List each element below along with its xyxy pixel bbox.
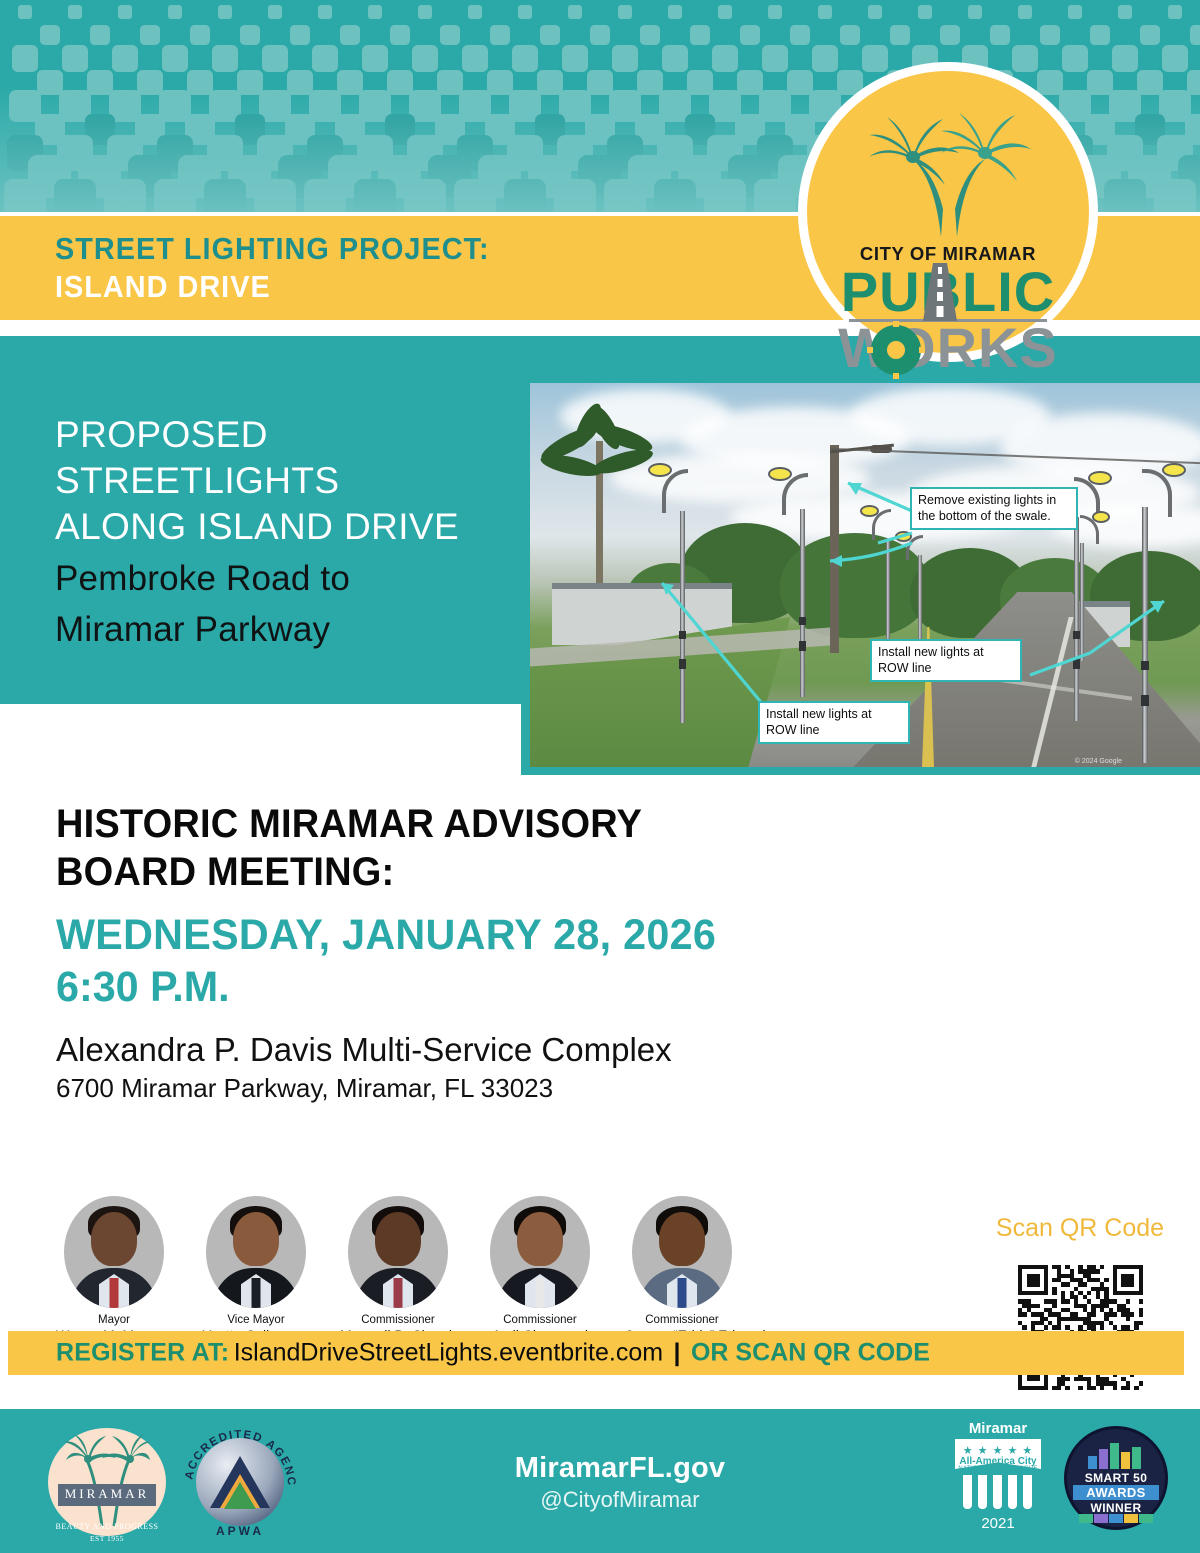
- apwa-bottom-text: APWA: [182, 1524, 298, 1538]
- seal-tagline: BEAUTY AND PROGRESS: [48, 1522, 166, 1531]
- project-title-line1: STREET LIGHTING PROJECT:: [55, 230, 490, 268]
- website-url[interactable]: MiramarFL.gov: [440, 1452, 800, 1485]
- register-url[interactable]: IslandDriveStreetLights.eventbrite.com: [234, 1339, 663, 1367]
- intro-line2: STREETLIGHTS: [55, 458, 525, 504]
- intro-line1: PROPOSED: [55, 412, 525, 458]
- street-photo: Remove existing lights in the bottom of …: [530, 383, 1200, 767]
- all-america-city-icon: Miramar ★ ★ ★ ★ ★ All-America City NATIO…: [950, 1420, 1046, 1532]
- official-card: Commissioner Carson “Eddy” Edwards: [624, 1196, 740, 1344]
- aac-org: NATIONAL CIVIC LEAGUE: [955, 1466, 1041, 1472]
- official-card: Commissioner Avril Cherasard: [482, 1196, 598, 1344]
- callout-remove-existing: Remove existing lights in the bottom of …: [910, 487, 1078, 530]
- miramar-seal-icon: MIRAMAR: [48, 1428, 166, 1536]
- project-title-line2: ISLAND DRIVE: [55, 268, 490, 306]
- avatar: [64, 1196, 164, 1308]
- meeting-info: HISTORIC MIRAMAR ADVISORY BOARD MEETING:…: [56, 800, 1146, 1104]
- meeting-address: 6700 Miramar Parkway, Miramar, FL 33023: [56, 1072, 1146, 1104]
- register-bar: REGISTER AT: IslandDriveStreetLights.eve…: [8, 1331, 1184, 1375]
- photo-attribution: © 2024 Google: [1075, 758, 1122, 765]
- officials-row: Mayor Wayne M. Messam Vice Mayor Yvette …: [56, 1196, 796, 1344]
- aac-city: Miramar: [950, 1420, 1046, 1437]
- meeting-time: 6:30 P.M.: [56, 962, 1102, 1012]
- gear-icon: [867, 321, 925, 379]
- callout-install-row-left: Install new lights at ROW line: [758, 701, 910, 744]
- apwa-accredited-icon: ACCREDITED AGENCY APWA: [182, 1424, 298, 1540]
- meeting-date: WEDNESDAY, JANUARY 28, 2026: [56, 910, 1102, 960]
- qr-label: Scan QR Code: [985, 1214, 1175, 1243]
- official-title: Commissioner: [340, 1313, 456, 1327]
- meeting-venue: Alexandra P. Davis Multi-Service Complex: [56, 1030, 1146, 1070]
- avatar: [632, 1196, 732, 1308]
- seal-est: EST 1955: [48, 1534, 166, 1543]
- palm-trees-icon: [853, 105, 1043, 245]
- official-title: Mayor: [56, 1313, 172, 1327]
- official-card: Vice Mayor Yvette Colbourne: [198, 1196, 314, 1344]
- official-title: Commissioner: [482, 1313, 598, 1327]
- register-suffix: OR SCAN QR CODE: [691, 1339, 930, 1367]
- meeting-heading-line1: HISTORIC MIRAMAR ADVISORY: [56, 800, 1092, 848]
- aac-year: 2021: [950, 1515, 1046, 1532]
- official-title: Commissioner: [624, 1313, 740, 1327]
- smart50-line1: SMART 50: [1067, 1471, 1165, 1485]
- footer-website-block: MiramarFL.gov @CityofMiramar: [440, 1452, 800, 1513]
- avatar: [348, 1196, 448, 1308]
- smart-50-awards-icon: SMART 50 AWARDS WINNER: [1064, 1426, 1168, 1530]
- intro-sub1: Pembroke Road to: [55, 556, 525, 601]
- callout-install-row-right: Install new lights at ROW line: [870, 639, 1022, 682]
- intro-sub2: Miramar Parkway: [55, 607, 525, 652]
- street-photo-frame: Remove existing lights in the bottom of …: [521, 375, 1200, 775]
- road-icon: [923, 263, 957, 321]
- smart50-line3: WINNER: [1067, 1501, 1165, 1515]
- official-title: Vice Mayor: [198, 1313, 314, 1327]
- social-handle[interactable]: @CityofMiramar: [440, 1487, 800, 1513]
- meeting-heading-line2: BOARD MEETING:: [56, 848, 1092, 896]
- official-card: Mayor Wayne M. Messam: [56, 1196, 172, 1344]
- seal-name: MIRAMAR: [48, 1486, 166, 1502]
- intro-copy: PROPOSED STREETLIGHTS ALONG ISLAND DRIVE…: [55, 412, 525, 652]
- public-works-logo: CITY OF MIRAMAR PUBLIC WORKS: [798, 62, 1098, 362]
- avatar: [490, 1196, 590, 1308]
- svg-text:ACCREDITED AGENCY: ACCREDITED AGENCY: [182, 1424, 297, 1487]
- intro-line3: ALONG ISLAND DRIVE: [55, 504, 525, 550]
- project-title: STREET LIGHTING PROJECT: ISLAND DRIVE: [55, 230, 522, 306]
- smart50-line2: AWARDS: [1073, 1485, 1159, 1500]
- register-prefix: REGISTER AT:: [56, 1339, 229, 1367]
- register-separator: |: [674, 1339, 681, 1367]
- avatar: [206, 1196, 306, 1308]
- official-card: Commissioner Maxwell B. Chambers: [340, 1196, 456, 1344]
